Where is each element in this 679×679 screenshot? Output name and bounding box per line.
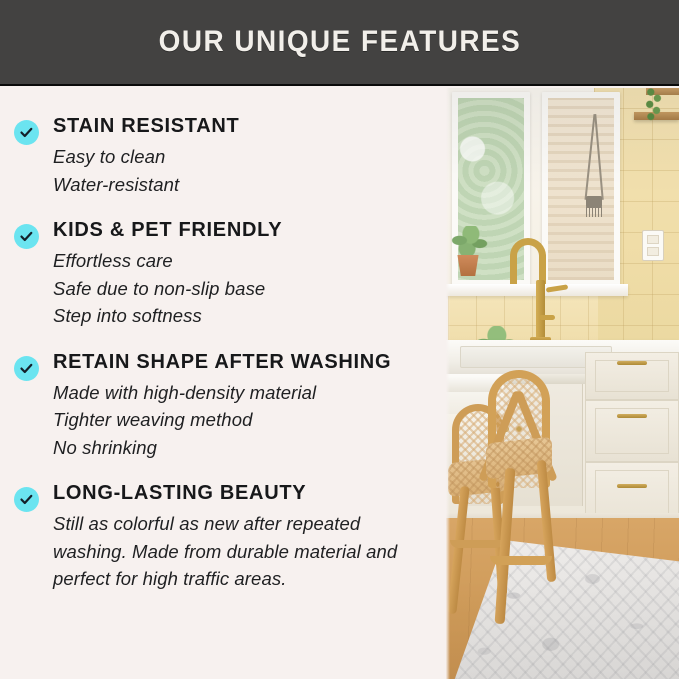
stool-rung bbox=[450, 540, 504, 548]
feature-line: Tighter weaving method bbox=[53, 406, 436, 434]
faucet-spout bbox=[539, 315, 555, 320]
feature-paragraph: Still as colorful as new after repeated … bbox=[53, 510, 425, 593]
brass-drawer-pull bbox=[617, 361, 647, 365]
feature-infographic-page: OUR UNIQUE FEATURES STAIN RESISTANT Easy… bbox=[0, 0, 679, 679]
check-circle-icon bbox=[14, 487, 39, 512]
feature-title: STAIN RESISTANT bbox=[53, 114, 436, 139]
kitchen-photo bbox=[446, 88, 679, 679]
check-circle-icon bbox=[14, 356, 39, 381]
trailing-plant bbox=[642, 88, 664, 122]
feature-line: Step into softness bbox=[53, 302, 436, 330]
stool-rung bbox=[490, 556, 552, 565]
blind-fringe bbox=[586, 207, 602, 217]
header-banner: OUR UNIQUE FEATURES bbox=[0, 0, 679, 86]
feature-title: KIDS & PET FRIENDLY bbox=[53, 218, 436, 243]
light-switch bbox=[647, 235, 659, 244]
gold-faucet-arc bbox=[510, 238, 546, 284]
window-right bbox=[542, 92, 620, 286]
feature-text: RETAIN SHAPE AFTER WASHING Made with hig… bbox=[53, 350, 436, 462]
feature-item: LONG-LASTING BEAUTY Still as colorful as… bbox=[14, 481, 436, 593]
feature-text: LONG-LASTING BEAUTY Still as colorful as… bbox=[53, 481, 436, 593]
feature-title: RETAIN SHAPE AFTER WASHING bbox=[53, 350, 436, 375]
feature-line: Made with high-density material bbox=[53, 379, 436, 407]
feature-text: KIDS & PET FRIENDLY Effortless care Safe… bbox=[53, 218, 436, 330]
feature-line: No shrinking bbox=[53, 434, 436, 462]
feature-item: RETAIN SHAPE AFTER WASHING Made with hig… bbox=[14, 350, 436, 462]
check-circle-icon bbox=[14, 224, 39, 249]
potted-plant-foliage bbox=[450, 226, 488, 258]
brass-drawer-pull bbox=[617, 414, 647, 418]
drawer bbox=[585, 352, 679, 400]
content-area: STAIN RESISTANT Easy to clean Water-resi… bbox=[0, 88, 679, 679]
feature-item: KIDS & PET FRIENDLY Effortless care Safe… bbox=[14, 218, 436, 330]
feature-title: LONG-LASTING BEAUTY bbox=[53, 481, 436, 506]
feature-line: Water-resistant bbox=[53, 171, 436, 199]
page-title: OUR UNIQUE FEATURES bbox=[158, 25, 521, 59]
feature-text: STAIN RESISTANT Easy to clean Water-resi… bbox=[53, 114, 436, 198]
drawer bbox=[585, 400, 679, 462]
brass-drawer-pull bbox=[617, 484, 647, 488]
feature-item: STAIN RESISTANT Easy to clean Water-resi… bbox=[14, 114, 436, 198]
features-list: STAIN RESISTANT Easy to clean Water-resi… bbox=[0, 88, 446, 679]
light-switch bbox=[647, 247, 659, 256]
check-circle-icon bbox=[14, 120, 39, 145]
feature-line: Safe due to non-slip base bbox=[53, 275, 436, 303]
gold-faucet-column bbox=[536, 280, 545, 340]
feature-line: Easy to clean bbox=[53, 143, 436, 171]
feature-line: Effortless care bbox=[53, 247, 436, 275]
